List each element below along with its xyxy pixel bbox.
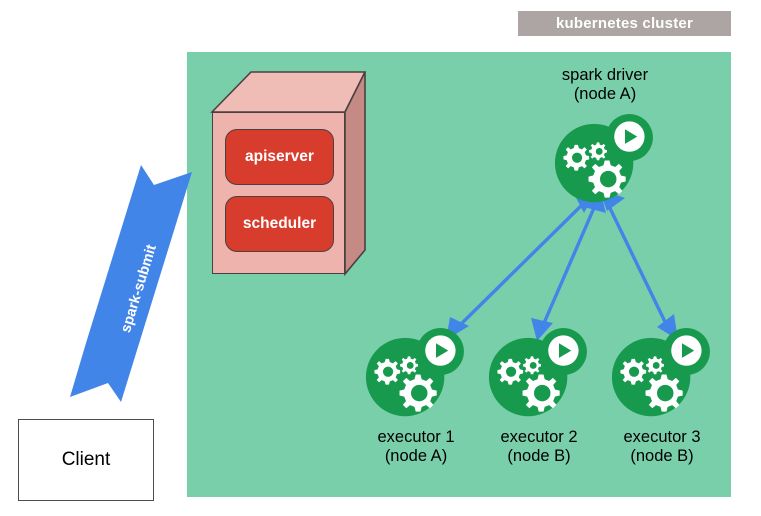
spark-driver-icon <box>555 114 653 202</box>
executor-1-icon <box>366 328 464 416</box>
apiserver-component[interactable]: apiserver <box>225 129 334 185</box>
executor-2-icon <box>489 328 587 416</box>
spark-driver-label: spark driver (node A) <box>525 66 685 104</box>
control-plane-front-face: apiserver scheduler <box>212 112 345 274</box>
client-box[interactable]: Client <box>18 419 154 501</box>
spark-driver-node: (node A) <box>525 85 685 104</box>
diagram-canvas: kubernetes cluster <box>0 0 761 516</box>
spark-driver-name: spark driver <box>525 66 685 85</box>
executor-3-name: executor 3 <box>582 428 742 447</box>
executor-3-icon <box>612 328 710 416</box>
executor-3-label: executor 3 (node B) <box>582 428 742 466</box>
connector-arrowheads <box>446 189 678 341</box>
driver-executor-connectors <box>455 199 669 330</box>
executor-3-node: (node B) <box>582 447 742 466</box>
client-label: Client <box>62 449 111 471</box>
scheduler-component[interactable]: scheduler <box>225 196 334 252</box>
